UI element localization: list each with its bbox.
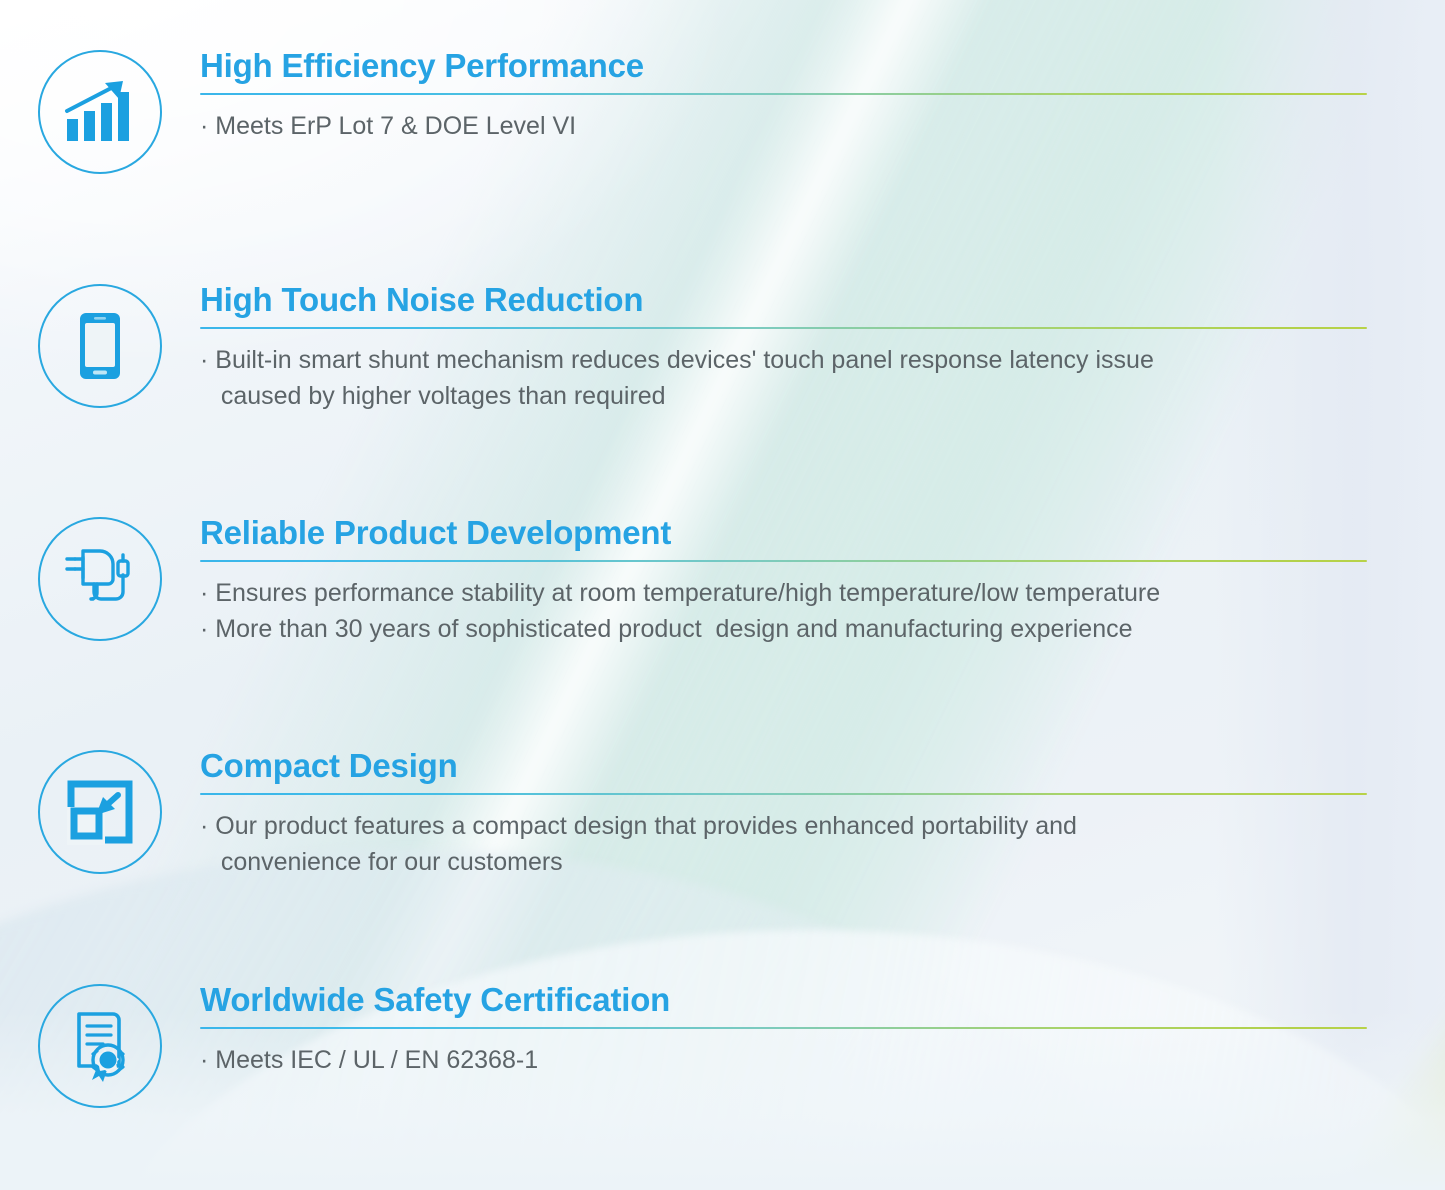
feature-text-cell: High Efficiency Performance · Meets ErP … <box>200 48 1445 144</box>
feature-title: High Efficiency Performance <box>200 48 1367 85</box>
compact-resize-icon <box>38 750 162 874</box>
feature-bullet: · Meets IEC / UL / EN 62368-1 <box>200 1043 1367 1078</box>
bar-chart-growth-icon <box>38 50 162 174</box>
feature-icon-cell <box>0 282 200 408</box>
feature-bullet: convenience for our customers <box>200 845 1367 880</box>
feature-icon-cell <box>0 515 200 641</box>
feature-bullets: · Built-in smart shunt mechanism reduces… <box>200 343 1367 413</box>
feature-item-compact-design: Compact Design · Our product features a … <box>0 748 1445 879</box>
feature-text-cell: Worldwide Safety Certification · Meets I… <box>200 982 1445 1078</box>
power-adapter-icon <box>38 517 162 641</box>
smartphone-icon <box>38 284 162 408</box>
feature-divider <box>200 93 1367 96</box>
feature-divider <box>200 560 1367 563</box>
feature-item-worldwide-safety-certification: Worldwide Safety Certification · Meets I… <box>0 982 1445 1108</box>
feature-title: High Touch Noise Reduction <box>200 282 1367 319</box>
feature-icon-cell <box>0 48 200 174</box>
feature-bullets: · Ensures performance stability at room … <box>200 576 1367 646</box>
feature-bullet: caused by higher voltages than required <box>200 379 1367 414</box>
feature-item-high-efficiency-performance: High Efficiency Performance · Meets ErP … <box>0 48 1445 174</box>
certificate-award-icon <box>38 984 162 1108</box>
feature-divider <box>200 793 1367 796</box>
feature-bullets: · Our product features a compact design … <box>200 809 1367 879</box>
feature-bullet: · More than 30 years of sophisticated pr… <box>200 612 1367 647</box>
feature-bullet: · Meets ErP Lot 7 & DOE Level VI <box>200 109 1367 144</box>
feature-item-reliable-product-development: Reliable Product Development · Ensures p… <box>0 515 1445 646</box>
feature-divider <box>200 1027 1367 1030</box>
feature-highlights-page: High Efficiency Performance · Meets ErP … <box>0 0 1445 1190</box>
feature-icon-cell <box>0 982 200 1108</box>
feature-divider <box>200 327 1367 330</box>
feature-text-cell: Reliable Product Development · Ensures p… <box>200 515 1445 646</box>
feature-item-high-touch-noise-reduction: High Touch Noise Reduction · Built-in sm… <box>0 282 1445 413</box>
feature-bullet: · Our product features a compact design … <box>200 809 1367 844</box>
feature-text-cell: Compact Design · Our product features a … <box>200 748 1445 879</box>
feature-bullet: · Built-in smart shunt mechanism reduces… <box>200 343 1367 378</box>
feature-title: Reliable Product Development <box>200 515 1367 552</box>
feature-text-cell: High Touch Noise Reduction · Built-in sm… <box>200 282 1445 413</box>
feature-title: Worldwide Safety Certification <box>200 982 1367 1019</box>
feature-icon-cell <box>0 748 200 874</box>
feature-title: Compact Design <box>200 748 1367 785</box>
feature-bullets: · Meets ErP Lot 7 & DOE Level VI <box>200 109 1367 144</box>
feature-bullet: · Ensures performance stability at room … <box>200 576 1367 611</box>
feature-bullets: · Meets IEC / UL / EN 62368-1 <box>200 1043 1367 1078</box>
